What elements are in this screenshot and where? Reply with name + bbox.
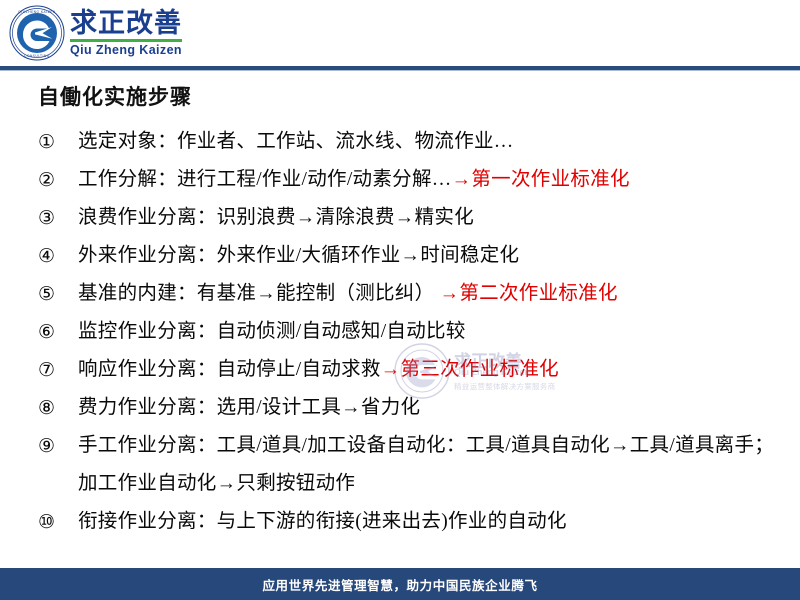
step-plain-text: 基准的内建：有基准→能控制（测比纠）: [78, 283, 434, 304]
brand-name-cn: 求正改善: [70, 8, 182, 38]
step-marker: ③: [38, 199, 78, 237]
step-item: ⑦响应作业分离：自动停止/自动求救→第三次作业标准化: [38, 351, 778, 389]
step-text: 外来作业分离：外来作业/大循环作业→时间稳定化: [78, 237, 778, 275]
step-marker: ⑦: [38, 351, 78, 389]
page-header: QIUZHENG KAIZEN CONSULTING 求正改善 Qiu Zhen…: [0, 0, 800, 66]
step-item: ②工作分解：进行工程/作业/动作/动素分解…→第一次作业标准化: [38, 161, 778, 199]
step-plain-text: 响应作业分离：自动停止/自动求救: [78, 359, 381, 380]
footer-slogan: 应用世界先进管理智慧，助力中国民族企业腾飞: [262, 575, 537, 594]
step-text: 选定对象：作业者、工作站、流水线、物流作业…: [78, 123, 778, 161]
step-plain-text: 选定对象：作业者、工作站、流水线、物流作业…: [78, 131, 514, 152]
slide-body: 自働化实施步骤 ①选定对象：作业者、工作站、流水线、物流作业…②工作分解：进行工…: [0, 71, 800, 568]
steps-list: ①选定对象：作业者、工作站、流水线、物流作业…②工作分解：进行工程/作业/动作/…: [38, 123, 778, 541]
step-text: 浪费作业分离：识别浪费→清除浪费→精实化: [78, 199, 778, 237]
step-plain-text: 监控作业分离：自动侦测/自动感知/自动比较: [78, 321, 466, 342]
step-item: ⑨手工作业分离：工具/道具/加工设备自动化：工具/道具自动化→工具/道具离手；加…: [38, 427, 778, 503]
step-emphasis-text: →第一次作业标准化: [452, 169, 630, 190]
step-text: 响应作业分离：自动停止/自动求救→第三次作业标准化: [78, 351, 778, 389]
page-title: 自働化实施步骤: [38, 85, 192, 111]
step-item: ⑥监控作业分离：自动侦测/自动感知/自动比较: [38, 313, 778, 351]
step-plain-text: 手工作业分离：工具/道具/加工设备自动化：工具/道具自动化→工具/道具离手；加工…: [78, 435, 774, 494]
step-plain-text: 浪费作业分离：识别浪费→清除浪费→精实化: [78, 207, 474, 228]
brand-name-en: Qiu Zheng Kaizen: [70, 43, 182, 58]
step-item: ⑤基准的内建：有基准→能控制（测比纠） →第二次作业标准化: [38, 275, 778, 313]
step-emphasis-text: →第二次作业标准化: [434, 283, 617, 304]
step-marker: ①: [38, 123, 78, 161]
step-text: 基准的内建：有基准→能控制（测比纠） →第二次作业标准化: [78, 275, 778, 313]
company-swoosh-seal-icon: QIUZHENG KAIZEN CONSULTING: [8, 4, 66, 62]
step-text: 费力作业分离：选用/设计工具→省力化: [78, 389, 778, 427]
step-text: 衔接作业分离：与上下游的衔接(进来出去)作业的自动化: [78, 503, 778, 541]
step-text: 手工作业分离：工具/道具/加工设备自动化：工具/道具自动化→工具/道具离手；加工…: [78, 427, 778, 503]
step-marker: ⑥: [38, 313, 78, 351]
step-marker: ④: [38, 237, 78, 275]
svg-text:QIUZHENG KAIZEN: QIUZHENG KAIZEN: [18, 10, 56, 14]
step-marker: ②: [38, 161, 78, 199]
step-item: ③浪费作业分离：识别浪费→清除浪费→精实化: [38, 199, 778, 237]
step-text: 工作分解：进行工程/作业/动作/动素分解…→第一次作业标准化: [78, 161, 778, 199]
step-item: ①选定对象：作业者、工作站、流水线、物流作业…: [38, 123, 778, 161]
step-plain-text: 衔接作业分离：与上下游的衔接(进来出去)作业的自动化: [78, 511, 567, 532]
step-plain-text: 费力作业分离：选用/设计工具→省力化: [78, 397, 420, 418]
step-item: ⑧费力作业分离：选用/设计工具→省力化: [38, 389, 778, 427]
step-marker: ⑨: [38, 427, 78, 465]
step-emphasis-text: →第三次作业标准化: [381, 359, 559, 380]
step-item: ⑩衔接作业分离：与上下游的衔接(进来出去)作业的自动化: [38, 503, 778, 541]
page-footer: 应用世界先进管理智慧，助力中国民族企业腾飞: [0, 568, 800, 600]
step-plain-text: 外来作业分离：外来作业/大循环作业→时间稳定化: [78, 245, 519, 266]
step-marker: ⑤: [38, 275, 78, 313]
brand-wordmark: 求正改善 Qiu Zheng Kaizen: [70, 8, 182, 58]
step-text: 监控作业分离：自动侦测/自动感知/自动比较: [78, 313, 778, 351]
step-item: ④外来作业分离：外来作业/大循环作业→时间稳定化: [38, 237, 778, 275]
step-marker: ⑩: [38, 503, 78, 541]
svg-text:CONSULTING: CONSULTING: [24, 54, 50, 58]
brand-underline: [70, 39, 182, 42]
step-marker: ⑧: [38, 389, 78, 427]
step-plain-text: 工作分解：进行工程/作业/动作/动素分解…: [78, 169, 452, 190]
brand-logo: QIUZHENG KAIZEN CONSULTING 求正改善 Qiu Zhen…: [8, 4, 182, 62]
